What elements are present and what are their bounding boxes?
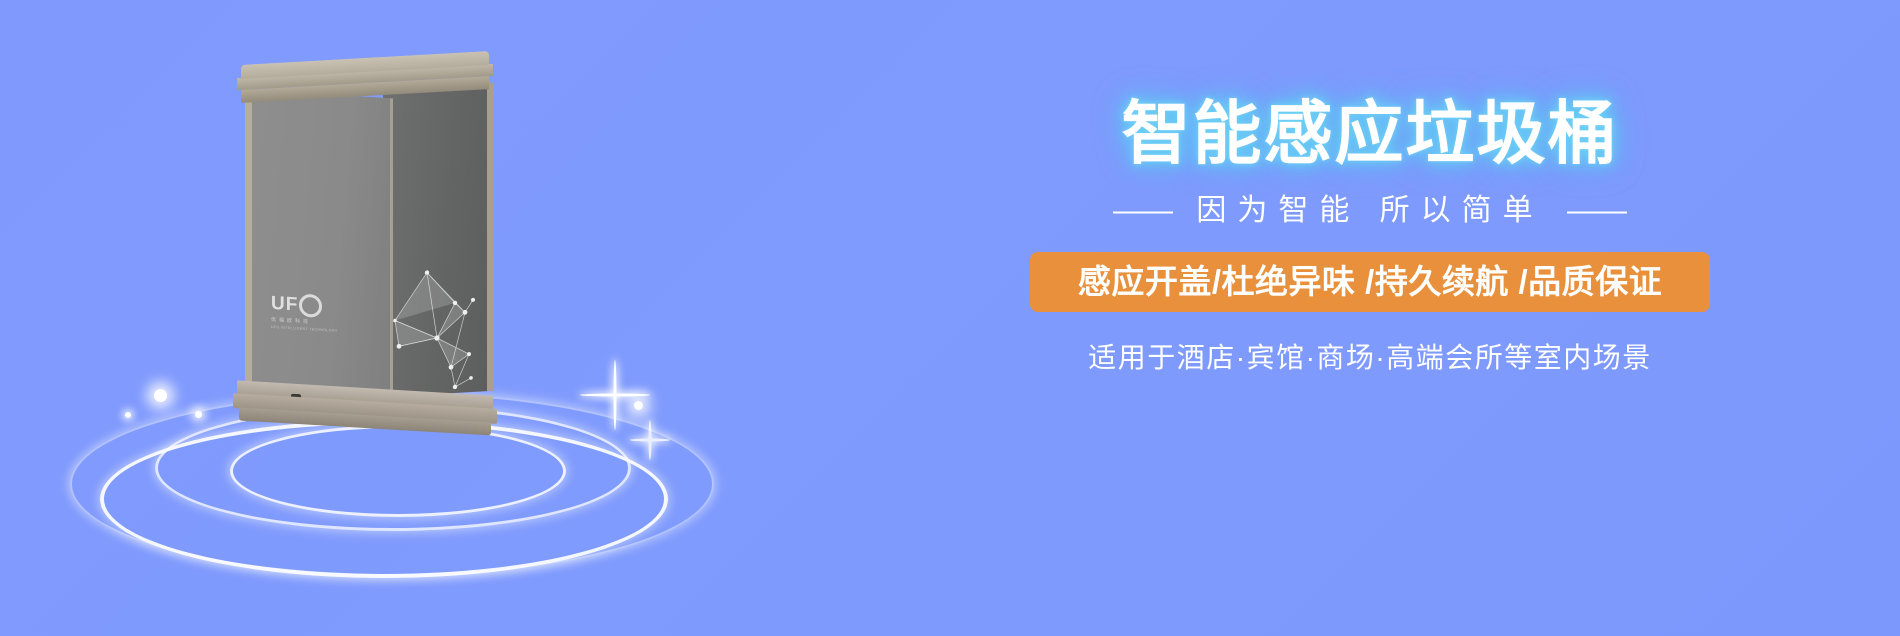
feature-highlight-text: 感应开盖/杜绝异味 /持久续航 /品质保证 bbox=[1078, 264, 1662, 300]
smart-trash-bin: UF 优 福 欧 科 技 UFO INTELLIGENT TECHNOLOGY bbox=[235, 58, 495, 428]
product-illustration: UF 优 福 欧 科 技 UFO INTELLIGENT TECHNOLOGY bbox=[60, 20, 780, 620]
brand-ring-icon bbox=[299, 294, 322, 318]
sparkle-dot-left-tiny bbox=[125, 412, 131, 418]
brand-wordmark: UF bbox=[271, 292, 341, 319]
feature-highlight-band: 感应开盖/杜绝异味 /持久续航 /品质保证 bbox=[1030, 252, 1710, 312]
network-pattern-graphic bbox=[385, 225, 489, 401]
usage-scenario-text: 适用于酒店·宾馆·商场·高端会所等室内场景 bbox=[880, 342, 1860, 374]
subheadline-dash-left: —— bbox=[1109, 194, 1177, 227]
sparkle-dot-left-small bbox=[195, 411, 202, 418]
sparkle-dot-left bbox=[154, 389, 167, 402]
subheadline-text: 因为智能 所以简单 bbox=[1196, 194, 1543, 227]
bin-panel-left bbox=[245, 90, 393, 399]
marketing-copy: 智能感应垃圾桶 —— 因为智能 所以简单 —— 感应开盖/杜绝异味 /持久续航 … bbox=[880, 96, 1860, 374]
ripple-ring-small bbox=[230, 425, 566, 517]
subheadline: —— 因为智能 所以简单 —— bbox=[880, 194, 1860, 228]
promo-banner: UF 优 福 欧 科 技 UFO INTELLIGENT TECHNOLOGY … bbox=[0, 0, 1900, 636]
subheadline-dash-right: —— bbox=[1563, 194, 1631, 227]
headline: 智能感应垃圾桶 bbox=[880, 96, 1860, 172]
sparkle-dot-right bbox=[634, 401, 643, 410]
sparkle-star-right-small bbox=[630, 420, 670, 460]
brand-wordmark-letters: UF bbox=[271, 294, 298, 315]
brand-logo: UF 优 福 欧 科 技 UFO INTELLIGENT TECHNOLOGY bbox=[271, 292, 341, 338]
